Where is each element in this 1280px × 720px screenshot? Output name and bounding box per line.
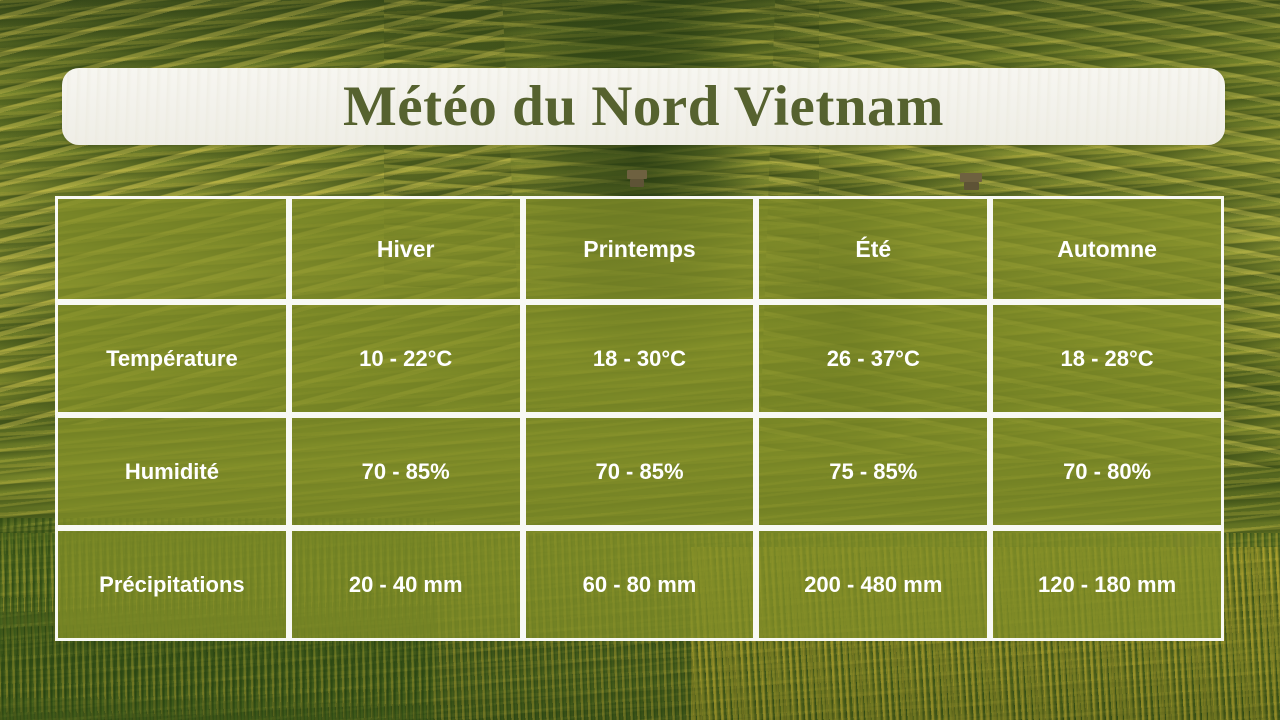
row-label-temperature: Température bbox=[55, 302, 289, 415]
cell-precipitations-printemps: 60 - 80 mm bbox=[523, 528, 757, 641]
cell-temperature-hiver: 10 - 22°C bbox=[289, 302, 523, 415]
cell-humidite-printemps: 70 - 85% bbox=[523, 415, 757, 528]
column-header-printemps: Printemps bbox=[523, 196, 757, 302]
cell-humidite-ete: 75 - 85% bbox=[756, 415, 990, 528]
table-header-row: Hiver Printemps Été Automne bbox=[55, 196, 1224, 302]
table-row-humidite: Humidité 70 - 85% 70 - 85% 75 - 85% 70 -… bbox=[55, 415, 1224, 528]
table-row-precipitations: Précipitations 20 - 40 mm 60 - 80 mm 200… bbox=[55, 528, 1224, 641]
cell-precipitations-automne: 120 - 180 mm bbox=[990, 528, 1224, 641]
row-label-precipitations: Précipitations bbox=[55, 528, 289, 641]
cell-temperature-ete: 26 - 37°C bbox=[756, 302, 990, 415]
column-header-ete: Été bbox=[756, 196, 990, 302]
cell-temperature-printemps: 18 - 30°C bbox=[523, 302, 757, 415]
table-corner-cell bbox=[55, 196, 289, 302]
cell-precipitations-hiver: 20 - 40 mm bbox=[289, 528, 523, 641]
cell-temperature-automne: 18 - 28°C bbox=[990, 302, 1224, 415]
row-label-humidite: Humidité bbox=[55, 415, 289, 528]
table-row-temperature: Température 10 - 22°C 18 - 30°C 26 - 37°… bbox=[55, 302, 1224, 415]
weather-table: Hiver Printemps Été Automne Température … bbox=[55, 196, 1224, 641]
cell-humidite-automne: 70 - 80% bbox=[990, 415, 1224, 528]
title-banner: Météo du Nord Vietnam bbox=[62, 68, 1225, 145]
cell-precipitations-ete: 200 - 480 mm bbox=[756, 528, 990, 641]
cell-humidite-hiver: 70 - 85% bbox=[289, 415, 523, 528]
page-title: Météo du Nord Vietnam bbox=[343, 78, 944, 135]
column-header-automne: Automne bbox=[990, 196, 1224, 302]
column-header-hiver: Hiver bbox=[289, 196, 523, 302]
